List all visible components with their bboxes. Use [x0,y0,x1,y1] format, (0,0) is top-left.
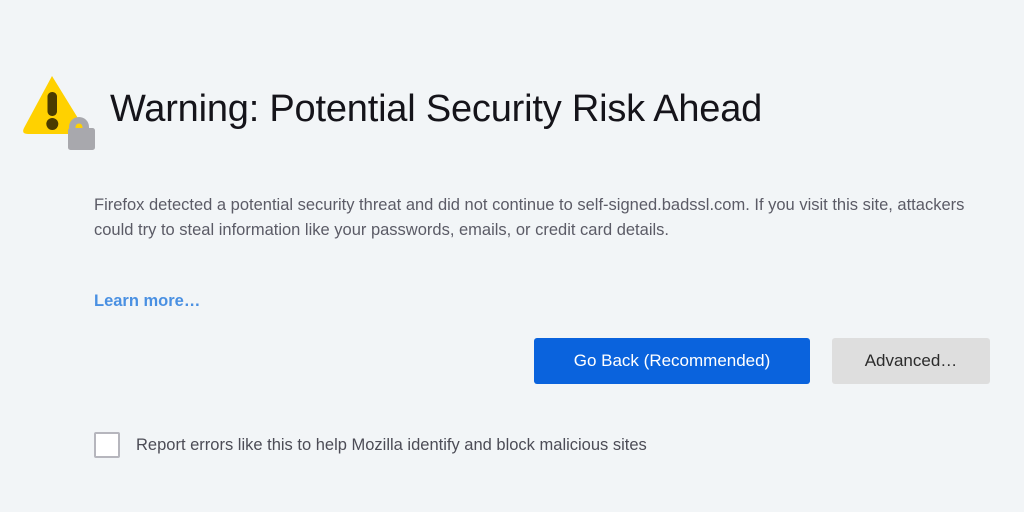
button-row: Go Back (Recommended) Advanced… [0,338,990,384]
advanced-button[interactable]: Advanced… [832,338,990,384]
page-title: Warning: Potential Security Risk Ahead [110,90,762,128]
warning-triangle-unlocked-padlock-icon [18,72,102,150]
error-page: Warning: Potential Security Risk Ahead F… [0,0,1024,512]
report-errors-row[interactable]: Report errors like this to help Mozilla … [94,432,647,458]
page-header: Warning: Potential Security Risk Ahead [18,72,762,150]
security-warning-description: Firefox detected a potential security th… [94,193,994,243]
report-errors-checkbox[interactable] [94,432,120,458]
go-back-button[interactable]: Go Back (Recommended) [534,338,810,384]
report-errors-label[interactable]: Report errors like this to help Mozilla … [136,436,647,455]
learn-more-link[interactable]: Learn more… [94,292,200,311]
